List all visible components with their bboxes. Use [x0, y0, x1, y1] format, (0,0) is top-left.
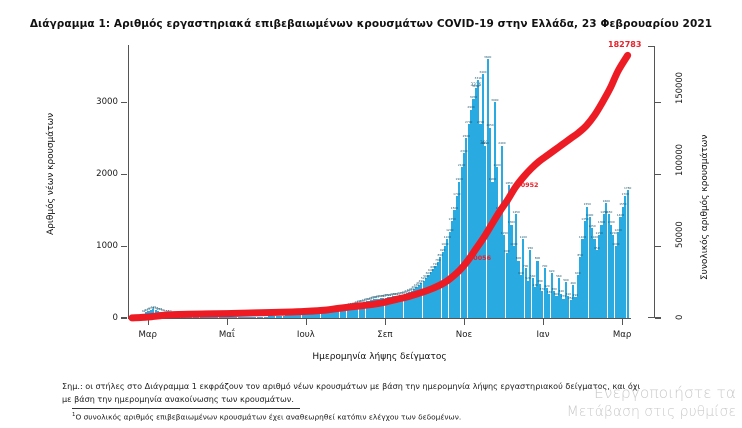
- footnote-text: Ο συνολικός αριθμός επιβεβαιωμένων κρουσ…: [75, 412, 461, 421]
- footnote-divider: [72, 408, 300, 409]
- y-tick-label-right: 150000: [674, 72, 684, 104]
- x-tick-label: Μαΐ: [203, 330, 251, 340]
- curve-value-label: 40056: [469, 254, 491, 262]
- y-tick-label-right: 100000: [674, 144, 684, 176]
- chart-note: Σημ.: οι στήλες στο Διάγραμμα 1 εκφράζου…: [62, 380, 722, 406]
- x-axis-title: Ημερομηνία λήψης δείγματος: [128, 352, 631, 362]
- cumulative-line-series: [128, 45, 630, 318]
- x-tick-label: Ιαν: [519, 330, 567, 340]
- y-tick-left: [121, 246, 127, 247]
- x-tick: [306, 319, 307, 325]
- y-tick-left: [121, 102, 127, 103]
- y-tick-label-right: 0: [674, 315, 684, 320]
- page-title: Διάγραμμα 1: Αριθμός εργαστηριακά επιβεβ…: [0, 18, 742, 30]
- x-axis-line: [128, 318, 631, 319]
- y-tick-right: [655, 246, 661, 247]
- x-tick: [464, 319, 465, 325]
- curve-value-label: 90952: [516, 181, 538, 189]
- y-tick-right: [655, 317, 661, 318]
- y-axis-right-cap-bottom: [648, 317, 654, 318]
- plot-area: 3316360062809511012010595888072666060626…: [128, 45, 630, 318]
- y-tick-left: [121, 317, 127, 318]
- x-tick-label: Νοε: [440, 330, 488, 340]
- x-tick: [227, 319, 228, 325]
- note-line-2: με βάση την ημερομηνία ανακοίνωσης των κ…: [62, 393, 722, 406]
- chart-page: Διάγραμμα 1: Αριθμός εργαστηριακά επιβεβ…: [0, 0, 742, 428]
- y-tick-right: [655, 174, 661, 175]
- x-tick-label: Ιουλ: [282, 330, 330, 340]
- note-line-1: Σημ.: οι στήλες στο Διάγραμμα 1 εκφράζου…: [62, 380, 722, 393]
- x-tick: [385, 319, 386, 325]
- y-axis-right-line: [654, 46, 655, 318]
- x-tick-label: Μαρ: [124, 330, 172, 340]
- y-tick-right: [655, 102, 661, 103]
- y-tick-label-right: 50000: [674, 222, 684, 249]
- y-axis-right-title: Συνολικός αριθμός κρουσμάτων: [700, 135, 710, 280]
- x-tick: [543, 319, 544, 325]
- x-tick: [622, 319, 623, 325]
- y-tick-label-left: 2000: [72, 169, 118, 179]
- y-tick-label-left: 1000: [72, 241, 118, 251]
- y-tick-left: [121, 174, 127, 175]
- y-tick-label-left: 3000: [72, 97, 118, 107]
- y-tick-label-left: 0: [72, 313, 118, 323]
- x-tick-label: Μαρ: [598, 330, 646, 340]
- x-tick-label: Σεπ: [361, 330, 409, 340]
- y-axis-left-title: Αριθμός νέων κρουσμάτων: [46, 113, 56, 235]
- footnote: 1Ο συνολικός αριθμός επιβεβαιωμένων κρου…: [72, 412, 692, 421]
- total-cases-label: 182783: [608, 40, 641, 49]
- y-axis-right-cap-top: [648, 46, 654, 47]
